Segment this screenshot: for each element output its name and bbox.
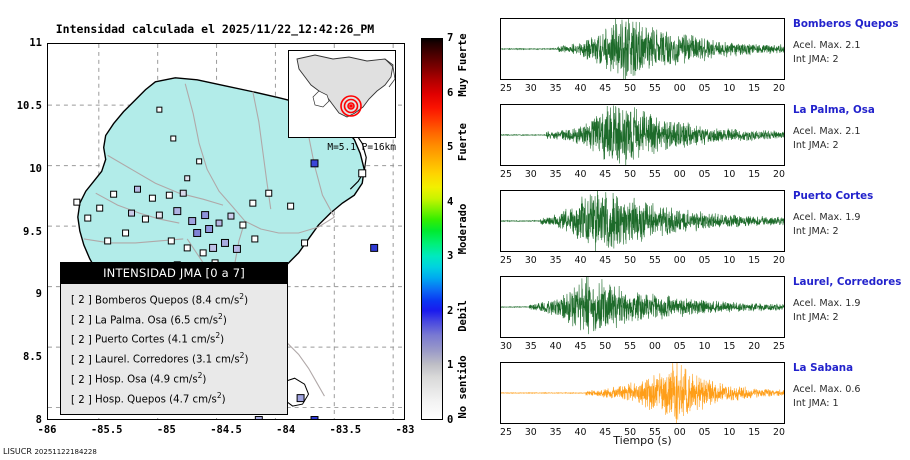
legend-item-level: [ 2 ]: [71, 293, 95, 309]
colorbar-tick: 2: [447, 305, 453, 317]
map-x-tick: -85: [157, 424, 176, 436]
station-marker: [142, 216, 148, 222]
station-marker: [302, 240, 308, 246]
legend-item-station: Puerto Cortes (4.1 cm/s: [95, 335, 215, 346]
waveform-x-tick: 50: [624, 255, 636, 266]
waveform-x-tick: 55: [649, 83, 661, 94]
colorbar-tick: 5: [447, 141, 453, 153]
waveform-trace: [501, 277, 784, 334]
waveform-plot[interactable]: [500, 18, 785, 80]
station-marker: [197, 159, 202, 164]
waveform-max-acceleration: Acel. Max. 0.6: [793, 383, 905, 397]
station-marker: [371, 244, 378, 251]
waveform-plot[interactable]: [500, 362, 785, 424]
waveform-x-tick: 35: [550, 427, 562, 438]
station-marker: [252, 236, 258, 242]
station-marker: [222, 239, 229, 246]
station-marker: [123, 230, 129, 236]
legend-header: INTENSIDAD JMA [0 a 7]: [61, 263, 287, 284]
station-marker: [166, 192, 172, 198]
legend-item-station: Hosp. Quepos (4.7 cm/s: [95, 395, 217, 406]
map-x-tick: -83: [396, 424, 415, 436]
station-marker: [250, 200, 256, 206]
legend-item: [ 2 ]Laurel. Corredores (3.1 cm/s2): [71, 348, 287, 368]
waveform-x-tick: 10: [723, 83, 735, 94]
waveform-x-tick: 35: [550, 83, 562, 94]
waveform-x-tick: 50: [624, 169, 636, 180]
station-marker: [206, 226, 213, 233]
waveform-x-tick: 30: [500, 341, 512, 352]
map-y-tick: 9: [36, 288, 42, 300]
legend-item-level: [ 2 ]: [71, 313, 95, 329]
map-x-tick: -83.5: [330, 424, 362, 436]
waveform-x-tick: 55: [649, 427, 661, 438]
waveform-x-tick: 25: [500, 255, 512, 266]
station-marker: [111, 191, 117, 197]
waveform-x-tick: 55: [624, 341, 636, 352]
waveform-x-tick: 00: [674, 255, 686, 266]
waveform-x-tick: 30: [525, 427, 537, 438]
waveform-meta: La Palma, OsaAcel. Max. 2.1Int JMA: 2: [793, 104, 905, 153]
map-y-tick: 11: [29, 37, 42, 49]
waveform-x-axis: 253035404550550005101520: [500, 427, 785, 445]
waveform-x-tick: 00: [674, 83, 686, 94]
station-marker: [255, 417, 262, 419]
legend-item-station: Bomberos Quepos (8.4 cm/s: [95, 295, 239, 306]
map-y-tick: 9.5: [23, 226, 42, 238]
station-marker: [174, 208, 181, 215]
waveform-station-name[interactable]: Puerto Cortes: [793, 190, 905, 203]
station-marker: [297, 395, 304, 402]
waveform-x-tick: 55: [649, 169, 661, 180]
waveform-max-acceleration: Acel. Max. 2.1: [793, 39, 905, 53]
waveform-x-tick: 20: [773, 169, 785, 180]
waveform-x-tick: 35: [550, 255, 562, 266]
waveform-x-tick: 00: [649, 341, 661, 352]
station-marker: [240, 222, 246, 228]
map-y-tick: 10.5: [17, 100, 42, 112]
waveform-x-tick: 55: [649, 255, 661, 266]
waveform-max-acceleration: Acel. Max. 2.1: [793, 125, 905, 139]
station-marker: [266, 190, 272, 196]
colorbar-tick: 7: [447, 32, 453, 44]
waveform-x-tick: 20: [748, 341, 760, 352]
watermark-prefix: LISUCR: [3, 447, 32, 456]
waveform-trace: [501, 191, 784, 251]
waveform-plot[interactable]: [500, 104, 785, 166]
station-marker: [149, 195, 155, 201]
magnitude-annotation: M=5.1 P=16km: [327, 142, 396, 153]
station-marker: [156, 212, 162, 218]
waveform-row: Puerto CortesAcel. Max. 1.9Int JMA: 2: [500, 190, 900, 252]
waveform-plot[interactable]: [500, 276, 785, 338]
colorbar-category: Fuerte: [457, 123, 469, 161]
station-marker: [210, 244, 217, 251]
waveform-x-axis: 303540455055000510152025: [500, 341, 785, 359]
waveform-jma-intensity: Int JMA: 2: [793, 139, 905, 153]
waveform-x-tick: 25: [500, 83, 512, 94]
legend-item-station: Hosp. Osa (4.9 cm/s: [95, 375, 198, 386]
colorbar-tick: 6: [447, 87, 453, 99]
waveform-panels: Tiempo (s) Bomberos QueposAcel. Max. 2.1…: [500, 18, 900, 438]
map-y-tick: 10: [29, 163, 42, 175]
waveform-station-name[interactable]: La Palma, Osa: [793, 104, 905, 117]
waveform-x-tick: 05: [674, 341, 686, 352]
legend-item: [ 2 ]Puerto Cortes (4.1 cm/s2): [71, 328, 287, 348]
waveform-x-tick: 25: [500, 427, 512, 438]
intensity-legend: INTENSIDAD JMA [0 a 7] [ 2 ]Bomberos Que…: [60, 262, 288, 415]
waveform-x-tick: 30: [525, 255, 537, 266]
legend-item-station: La Palma. Osa (6.5 cm/s: [95, 315, 218, 326]
legend-item-close: ): [244, 355, 248, 366]
waveform-x-tick: 25: [773, 341, 785, 352]
legend-item: [ 2 ]Bomberos Quepos (8.4 cm/s2): [71, 289, 287, 309]
waveform-meta: Puerto CortesAcel. Max. 1.9Int JMA: 2: [793, 190, 905, 239]
legend-item-close: ): [222, 395, 226, 406]
waveform-x-tick: 15: [748, 255, 760, 266]
waveform-jma-intensity: Int JMA: 2: [793, 311, 905, 325]
legend-item: [ 2 ]Hosp. Quepos (4.7 cm/s2): [71, 388, 287, 408]
waveform-x-tick: 05: [699, 169, 711, 180]
station-marker: [216, 220, 222, 226]
legend-item-close: ): [220, 335, 224, 346]
legend-item-level: [ 2 ]: [71, 353, 95, 369]
colorbar-tick: 0: [447, 414, 453, 426]
waveform-x-tick: 15: [723, 341, 735, 352]
waveform-x-tick: 45: [599, 83, 611, 94]
waveform-trace: [501, 363, 784, 423]
station-marker: [129, 210, 135, 216]
waveform-x-tick: 25: [500, 169, 512, 180]
station-marker: [194, 230, 201, 237]
station-marker: [185, 176, 190, 181]
legend-item-station: Laurel. Corredores (3.1 cm/s: [95, 355, 240, 366]
station-marker: [180, 190, 186, 196]
waveform-x-tick: 40: [574, 83, 586, 94]
waveform-x-tick: 40: [550, 341, 562, 352]
waveform-x-tick: 05: [699, 427, 711, 438]
waveform-jma-intensity: Int JMA: 2: [793, 225, 905, 239]
waveform-x-tick: 05: [699, 83, 711, 94]
waveform-x-tick: 45: [599, 255, 611, 266]
station-marker: [200, 250, 206, 256]
waveform-x-axis: 253035404550550005101520: [500, 169, 785, 187]
waveform-x-axis: 253035404550550005101520: [500, 255, 785, 273]
waveform-x-tick: 00: [674, 427, 686, 438]
legend-item-level: [ 2 ]: [71, 333, 95, 349]
watermark-code: 20251122184228: [34, 448, 96, 456]
waveform-x-tick: 20: [773, 427, 785, 438]
station-marker: [85, 215, 91, 221]
waveform-x-tick: 00: [674, 169, 686, 180]
waveform-jma-intensity: Int JMA: 2: [793, 53, 905, 67]
station-marker: [168, 238, 174, 244]
map-x-tick: -84.5: [210, 424, 242, 436]
station-marker: [233, 245, 240, 252]
intensity-colorbar: 01234567 No sentidoDebilModeradoFuerteMu…: [421, 38, 443, 420]
map-x-tick: -84: [276, 424, 295, 436]
waveform-trace: [501, 106, 784, 165]
station-marker: [184, 245, 190, 251]
waveform-x-tick: 10: [699, 341, 711, 352]
waveform-x-tick: 10: [723, 255, 735, 266]
waveform-row: La Palma, OsaAcel. Max. 2.1Int JMA: 2: [500, 104, 900, 166]
map-x-tick: -85.5: [91, 424, 123, 436]
waveform-x-tick: 15: [748, 427, 760, 438]
colorbar-category: Moderado: [457, 204, 469, 255]
waveform-x-tick: 30: [525, 169, 537, 180]
legend-item-close: ): [202, 375, 206, 386]
waveform-x-tick: 35: [525, 341, 537, 352]
legend-station-list: [ 2 ]Bomberos Quepos (8.4 cm/s2)[ 2 ]La …: [61, 284, 287, 414]
map-y-tick: 8: [36, 414, 42, 426]
waveform-x-tick: 20: [773, 255, 785, 266]
waveform-row: La SabanaAcel. Max. 0.6Int JMA: 1: [500, 362, 900, 424]
intensity-map[interactable]: M=5.1 P=16km INTENSIDAD JMA [0 a 7] [ 2 …: [47, 43, 405, 420]
colorbar-category: Muy Fuerte: [457, 34, 469, 97]
waveform-max-acceleration: Acel. Max. 1.9: [793, 211, 905, 225]
waveform-plot[interactable]: [500, 190, 785, 252]
map-y-tick: 8.5: [23, 351, 42, 363]
legend-item-close: ): [223, 315, 227, 326]
station-marker: [202, 212, 209, 219]
waveform-station-name[interactable]: La Sabana: [793, 362, 905, 375]
station-marker: [311, 417, 318, 419]
waveform-x-tick: 15: [748, 83, 760, 94]
station-marker: [135, 186, 141, 192]
waveform-meta: La SabanaAcel. Max. 0.6Int JMA: 1: [793, 362, 905, 411]
colorbar-gradient: [421, 38, 443, 420]
station-marker: [74, 199, 80, 205]
watermark: LISUCR 20251122184228: [3, 447, 97, 456]
station-marker: [311, 160, 318, 167]
waveform-meta: Laurel, CorredoresAcel. Max. 1.9Int JMA:…: [793, 276, 905, 325]
station-marker: [228, 213, 234, 219]
waveform-trace: [501, 19, 784, 79]
waveform-x-tick: 50: [624, 427, 636, 438]
epicenter-marker: [341, 96, 361, 116]
colorbar-category: No sentido: [457, 356, 469, 419]
waveform-x-tick: 40: [574, 169, 586, 180]
colorbar-tick: 4: [447, 196, 453, 208]
waveform-x-tick: 50: [624, 83, 636, 94]
waveform-meta: Bomberos QueposAcel. Max. 2.1Int JMA: 2: [793, 18, 905, 67]
waveform-station-name[interactable]: Bomberos Quepos: [793, 18, 905, 31]
waveform-x-tick: 50: [599, 341, 611, 352]
station-marker: [97, 205, 103, 211]
waveform-x-tick: 35: [550, 169, 562, 180]
colorbar-tick: 3: [447, 250, 453, 262]
waveform-x-tick: 10: [723, 169, 735, 180]
station-marker: [157, 107, 162, 112]
colorbar-category: Debil: [457, 301, 469, 333]
seismic-intensity-page: Intensidad calculada el 2025/11/22_12:42…: [0, 0, 910, 460]
inset-graphic: [289, 51, 395, 137]
station-marker: [189, 218, 196, 225]
waveform-x-tick: 20: [773, 83, 785, 94]
station-marker: [288, 203, 294, 209]
legend-item: [ 2 ]Hosp. Osa (4.9 cm/s2): [71, 368, 287, 388]
legend-item-level: [ 2 ]: [71, 393, 95, 409]
waveform-x-tick: 05: [699, 255, 711, 266]
colorbar-tick: 1: [447, 359, 453, 371]
waveform-x-tick: 10: [723, 427, 735, 438]
waveform-x-tick: 45: [599, 427, 611, 438]
inset-location-map: [288, 50, 396, 138]
waveform-jma-intensity: Int JMA: 1: [793, 397, 905, 411]
waveform-x-tick: 30: [525, 83, 537, 94]
waveform-x-tick: 15: [748, 169, 760, 180]
station-marker: [359, 170, 366, 177]
station-marker: [105, 238, 111, 244]
waveform-row: Laurel, CorredoresAcel. Max. 1.9Int JMA:…: [500, 276, 900, 338]
waveform-row: Bomberos QueposAcel. Max. 2.1Int JMA: 2: [500, 18, 900, 80]
waveform-x-tick: 45: [599, 169, 611, 180]
legend-item-level: [ 2 ]: [71, 373, 95, 389]
legend-item-close: ): [244, 295, 248, 306]
waveform-station-name[interactable]: Laurel, Corredores: [793, 276, 905, 289]
waveform-max-acceleration: Acel. Max. 1.9: [793, 297, 905, 311]
legend-item: [ 2 ]La Palma. Osa (6.5 cm/s2): [71, 309, 287, 329]
waveform-x-tick: 40: [574, 255, 586, 266]
waveform-x-tick: 40: [574, 427, 586, 438]
station-marker: [171, 136, 176, 141]
page-title: Intensidad calculada el 2025/11/22_12:42…: [0, 22, 430, 36]
waveform-x-tick: 45: [574, 341, 586, 352]
waveform-x-axis: 253035404550550005101520: [500, 83, 785, 101]
